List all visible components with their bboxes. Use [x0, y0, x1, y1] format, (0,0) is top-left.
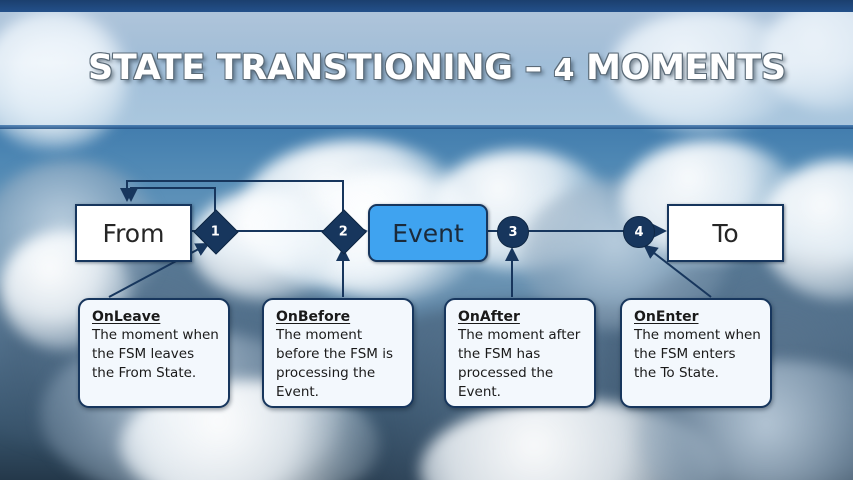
- callout-onbefore[interactable]: OnBefore The moment before the FSM is pr…: [262, 298, 414, 408]
- callout-onafter-title: OnAfter: [458, 309, 520, 325]
- callout-onafter[interactable]: OnAfter The moment after the FSM has pro…: [444, 298, 596, 408]
- moment-marker-4-label: 4: [634, 225, 643, 240]
- callout-onbefore-body: The moment before the FSM is processing …: [276, 326, 403, 403]
- moment-marker-3[interactable]: 3: [497, 216, 529, 248]
- state-node-event[interactable]: Event: [368, 204, 488, 262]
- callout-onafter-body: The moment after the FSM has processed t…: [458, 326, 585, 403]
- callout-onleave-title: OnLeave: [92, 309, 160, 325]
- callout-onleave[interactable]: OnLeave The moment when the FSM leaves t…: [78, 298, 230, 408]
- moment-marker-4[interactable]: 4: [623, 216, 655, 248]
- state-node-event-label: Event: [392, 219, 464, 248]
- state-node-from-label: From: [103, 219, 165, 248]
- state-node-from[interactable]: From: [75, 204, 192, 262]
- callout-onenter[interactable]: OnEnter The moment when the FSM enters t…: [620, 298, 772, 408]
- moment-marker-3-label: 3: [508, 225, 517, 240]
- callout-onbefore-title: OnBefore: [276, 309, 350, 325]
- callout-onleave-body: The moment when the FSM leaves the From …: [92, 326, 219, 383]
- moment-marker-1-label: 1: [211, 224, 220, 239]
- state-node-to-label: To: [712, 219, 738, 248]
- slide-canvas: STATE TRANSTIONING – 4 MOMENTS: [0, 0, 853, 480]
- moment-marker-2-label: 2: [339, 224, 348, 239]
- callout-onenter-title: OnEnter: [634, 309, 699, 325]
- state-node-to[interactable]: To: [667, 204, 784, 262]
- callout-onenter-body: The moment when the FSM enters the To St…: [634, 326, 761, 383]
